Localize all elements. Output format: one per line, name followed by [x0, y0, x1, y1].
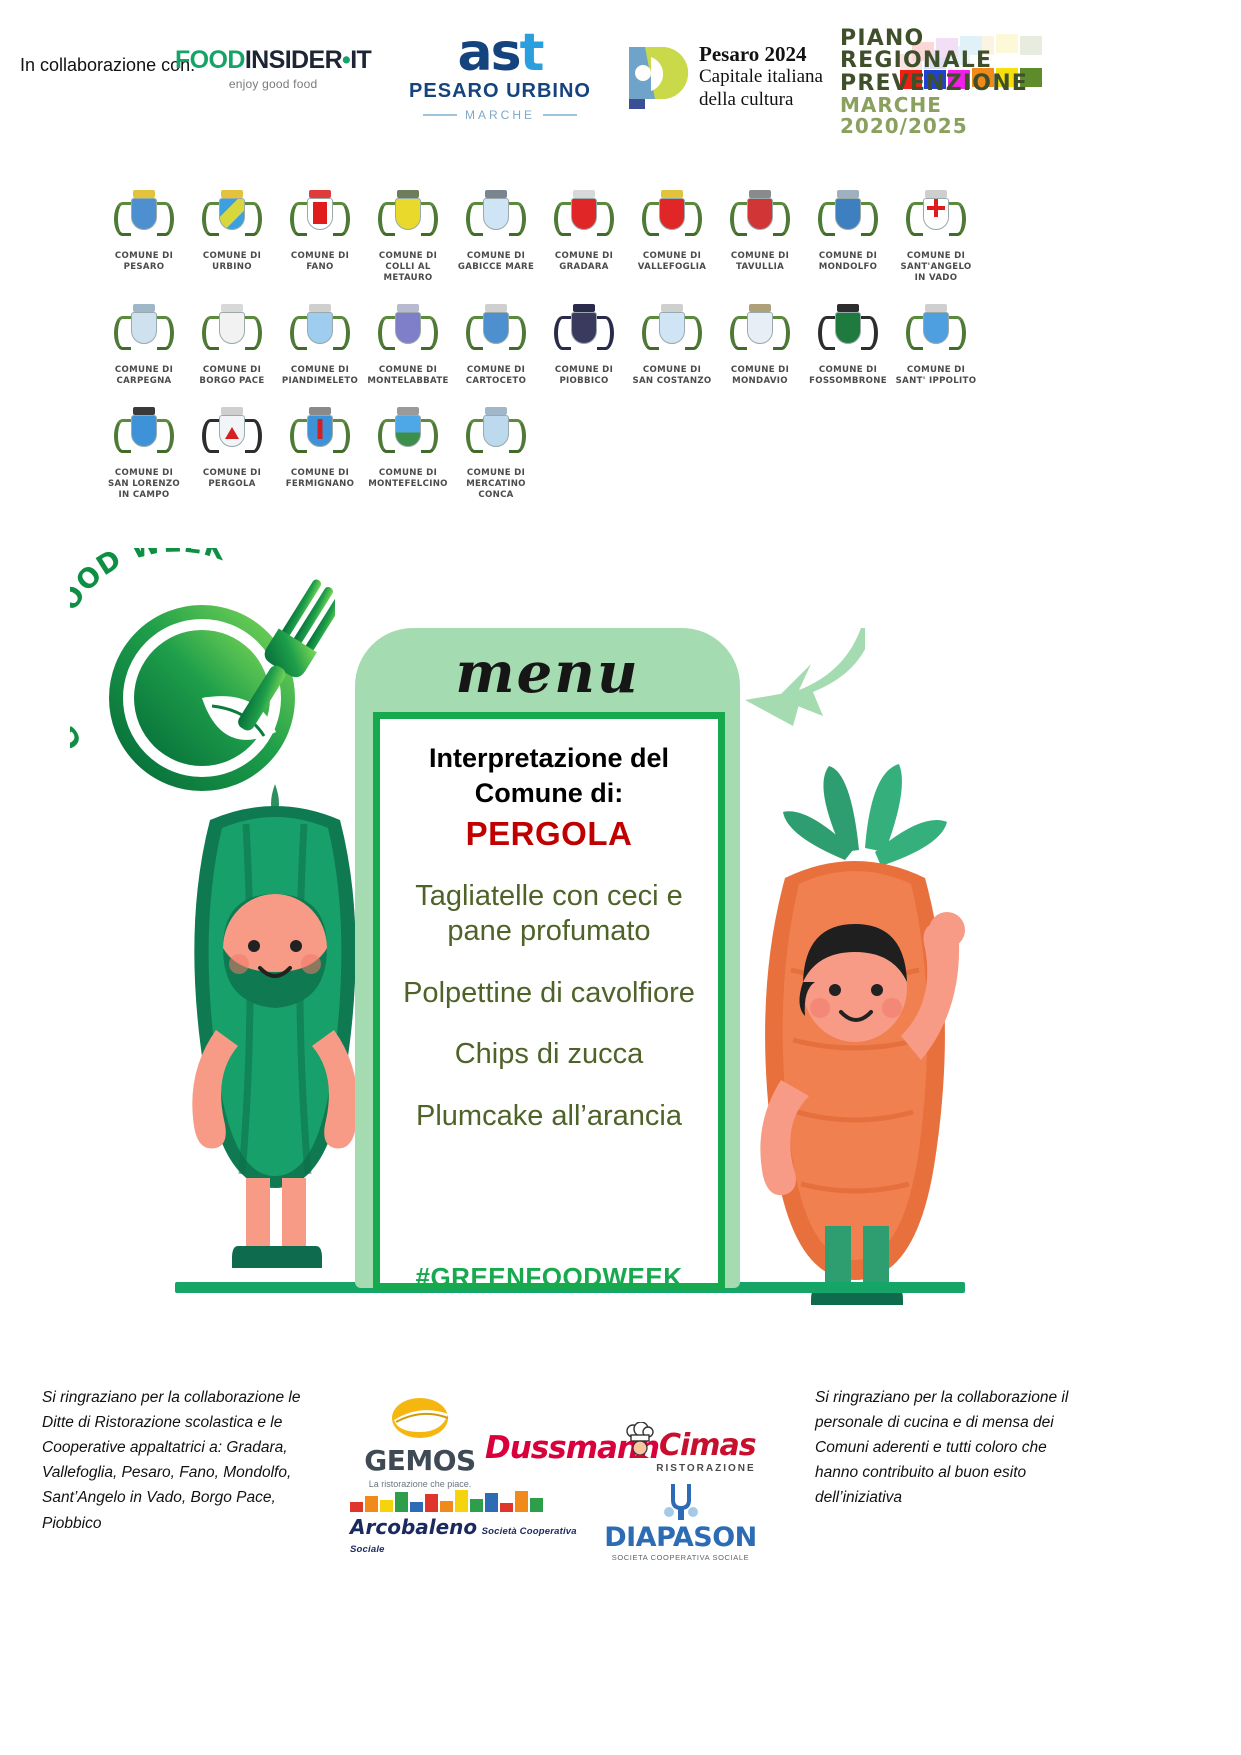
crest-shield-icon — [817, 304, 879, 362]
crest-shield-icon — [113, 407, 175, 465]
crest-name: VALLEFOGLIA — [638, 262, 706, 272]
crest-fano: COMUNE DIFANO — [278, 190, 362, 284]
cimas-logo: Cimas RISTORAZIONE — [625, 1422, 756, 1474]
crest-name: CARPEGNA — [116, 376, 171, 386]
crest-shield-icon — [641, 190, 703, 248]
crest-name: COLLI AL METAURO — [383, 262, 432, 283]
crest-santangelo-in-vado: COMUNE DISANT'ANGELO IN VADO — [894, 190, 978, 284]
diapason-tuning-fork-icon — [661, 1482, 701, 1520]
collaboration-label: In collaborazione con: — [20, 55, 195, 76]
foodinsider-tagline: enjoy good food — [175, 77, 371, 91]
footer-thanks-left: Si ringraziano per la collaborazione le … — [42, 1385, 310, 1536]
crest-prefix: COMUNE DI — [907, 365, 965, 375]
prp-line-2: REGIONALE — [840, 50, 1060, 72]
arcobaleno-name: Arcobaleno — [350, 1515, 477, 1539]
crest-prefix: COMUNE DI — [731, 251, 789, 261]
crest-prefix: COMUNE DI — [203, 365, 261, 375]
crest-name: SANT'ANGELO IN VADO — [900, 262, 971, 283]
arcobaleno-logo: Arcobaleno Società Cooperativa Sociale — [350, 1486, 580, 1557]
crest-shield-icon — [113, 190, 175, 248]
menu-script-title: menu — [355, 640, 740, 706]
cimas-tagline: RISTORAZIONE — [625, 1463, 756, 1474]
crest-shield-icon — [377, 407, 439, 465]
diapason-name: DIAPASON — [598, 1522, 763, 1553]
crest-prefix: COMUNE DI — [291, 251, 349, 261]
gemos-name: GEMOS — [360, 1444, 480, 1477]
pesaro-2024-line2: Capitale italiana — [699, 66, 823, 89]
gemos-logo: GEMOS La ristorazione che piace. — [360, 1396, 480, 1489]
crest-carpegna: COMUNE DICARPEGNA — [102, 304, 186, 387]
crest-name: SANT' IPPOLITO — [896, 376, 977, 386]
prp-line-1: PIANO — [840, 28, 1060, 50]
crest-prefix: COMUNE DI — [379, 365, 437, 375]
crest-mondavio: COMUNE DIMONDAVIO — [718, 304, 802, 387]
menu-item-3: Chips di zucca — [394, 1037, 704, 1072]
ast-plus-icon: t — [520, 23, 543, 83]
crest-name: MONTELABBATE — [367, 376, 448, 386]
crest-shield-icon — [553, 190, 615, 248]
crest-prefix: COMUNE DI — [467, 468, 525, 478]
crest-tavullia: COMUNE DITAVULLIA — [718, 190, 802, 284]
menu-items-list: Tagliatelle con ceci e pane profumato Po… — [394, 879, 704, 1160]
crest-prefix: COMUNE DI — [467, 251, 525, 261]
crest-montefelcino: COMUNE DIMONTEFELCINO — [366, 407, 450, 501]
crest-prefix: COMUNE DI — [643, 251, 701, 261]
crest-prefix: COMUNE DI — [819, 365, 877, 375]
crest-borgo-pace: COMUNE DIBORGO PACE — [190, 304, 274, 387]
crest-name: PIOBBICO — [559, 376, 608, 386]
crest-prefix: COMUNE DI — [379, 468, 437, 478]
crest-row-3: COMUNE DISAN LORENZO IN CAMPO COMUNE DIP… — [100, 407, 1040, 509]
crest-mondolfo: COMUNE DIMONDOLFO — [806, 190, 890, 284]
crest-prefix: COMUNE DI — [379, 251, 437, 261]
crest-prefix: COMUNE DI — [731, 365, 789, 375]
crest-mercatino-conca: COMUNE DIMERCATINO CONCA — [454, 407, 538, 501]
foodinsider-logo: FOODINSIDER•IT enjoy good food — [175, 48, 371, 91]
diapason-logo: DIAPASON SOCIETA COOPERATIVA SOCIALE — [598, 1482, 763, 1562]
crest-shield-icon — [729, 304, 791, 362]
crest-pesaro: COMUNE DIPESARO — [102, 190, 186, 284]
crest-pergola: COMUNE DIPERGOLA — [190, 407, 274, 501]
crest-shield-icon — [289, 190, 351, 248]
crest-name: SAN LORENZO IN CAMPO — [108, 479, 180, 500]
crest-shield-icon — [377, 190, 439, 248]
ast-wordmark: as — [458, 23, 520, 83]
menu-comune-name: PERGOLA — [466, 815, 633, 853]
gemos-plate-icon — [388, 1396, 452, 1444]
footer-thanks-right: Si ringraziano per la collaborazione il … — [815, 1385, 1090, 1511]
cimas-chef-icon — [625, 1422, 655, 1463]
piano-regionale-prevenzione-logo: PIANO REGIONALE PREVENZIONE MARCHE 2020/… — [840, 28, 1060, 136]
crest-shield-icon — [201, 304, 263, 362]
crest-santippolito: COMUNE DISANT' IPPOLITO — [894, 304, 978, 387]
crest-prefix: COMUNE DI — [819, 251, 877, 261]
menu-heading-line-2: Comune di: — [475, 776, 624, 811]
menu-item-2: Polpettine di cavolfiore — [394, 976, 704, 1011]
crest-name: PERGOLA — [208, 479, 255, 489]
crest-prefix: COMUNE DI — [907, 251, 965, 261]
pesaro-2024-logo: Pesaro 2024 Capitale italiana della cult… — [625, 42, 823, 112]
crest-row-1: COMUNE DIPESARO COMUNE DIURBINO COMUNE D… — [100, 190, 1040, 292]
crest-shield-icon — [817, 190, 879, 248]
crest-prefix: COMUNE DI — [115, 365, 173, 375]
crest-urbino: COMUNE DIURBINO — [190, 190, 274, 284]
crest-name: FERMIGNANO — [286, 479, 355, 489]
crest-shield-icon — [905, 190, 967, 248]
arcobaleno-bars-icon — [350, 1486, 580, 1512]
crest-shield-icon — [465, 304, 527, 362]
crest-montelabbate: COMUNE DIMONTELABBATE — [366, 304, 450, 387]
crest-shield-icon — [201, 190, 263, 248]
crest-name: URBINO — [212, 262, 252, 272]
crest-prefix: COMUNE DI — [291, 365, 349, 375]
crest-row-2: COMUNE DICARPEGNA COMUNE DIBORGO PACE CO… — [100, 304, 1040, 395]
crest-name: MERCATINO CONCA — [466, 479, 526, 500]
header-logo-strip: In collaborazione con: FOODINSIDER•IT en… — [0, 0, 1241, 150]
crest-name: MONDAVIO — [732, 376, 788, 386]
crest-name: PESARO — [124, 262, 165, 272]
foodinsider-insider: INSIDER — [245, 46, 342, 74]
menu-arrow-icon — [735, 622, 865, 732]
menu-item-1: Tagliatelle con ceci e pane profumato — [394, 879, 704, 950]
crest-shield-icon — [113, 304, 175, 362]
diapason-subtitle: SOCIETA COOPERATIVA SOCIALE — [598, 1553, 763, 1562]
crest-name: GABICCE MARE — [458, 262, 534, 272]
crest-name: GRADARA — [559, 262, 608, 272]
crest-name: MONDOLFO — [819, 262, 878, 272]
crest-prefix: COMUNE DI — [555, 251, 613, 261]
pesaro-2024-title: Pesaro 2024 — [699, 42, 823, 66]
crest-piandimeleto: COMUNE DIPIANDIMELETO — [278, 304, 362, 387]
crest-shield-icon — [465, 190, 527, 248]
sponsor-logo-group: GEMOS La ristorazione che piace. Dussman… — [340, 1378, 770, 1558]
crest-shield-icon — [289, 407, 351, 465]
crest-prefix: COMUNE DI — [203, 251, 261, 261]
poster-page: In collaborazione con: FOODINSIDER•IT en… — [0, 0, 1241, 1755]
foodinsider-food: FOOD — [175, 46, 245, 74]
crest-colli-al-metauro: COMUNE DICOLLI AL METAURO — [366, 190, 450, 284]
green-food-week-logo: GREEN FOOD WEEK — [70, 548, 335, 798]
foodinsider-dot-icon: • — [342, 46, 350, 74]
crest-vallefoglia: COMUNE DIVALLEFOGLIA — [630, 190, 714, 284]
crest-prefix: COMUNE DI — [643, 365, 701, 375]
menu-card: Interpretazione del Comune di: PERGOLA T… — [373, 712, 725, 1290]
crest-prefix: COMUNE DI — [291, 468, 349, 478]
ast-region-label: MARCHE — [465, 108, 535, 122]
crest-shield-icon — [201, 407, 263, 465]
crest-shield-icon — [905, 304, 967, 362]
crest-name: PIANDIMELETO — [282, 376, 358, 386]
prp-line-3: PREVENZIONE — [840, 73, 1060, 95]
crest-fermignano: COMUNE DIFERMIGNANO — [278, 407, 362, 501]
crest-prefix: COMUNE DI — [203, 468, 261, 478]
crest-name: TAVULLIA — [736, 262, 784, 272]
crest-name: MONTEFELCINO — [368, 479, 448, 489]
crest-shield-icon — [641, 304, 703, 362]
crest-name: SAN COSTANZO — [632, 376, 711, 386]
menu-heading-line-1: Interpretazione del — [429, 741, 669, 776]
crest-fossombrone: COMUNE DIFOSSOMBRONE — [806, 304, 890, 387]
crest-piobbico: COMUNE DIPIOBBICO — [542, 304, 626, 387]
crest-name: BORGO PACE — [199, 376, 264, 386]
green-food-week-hashtag: #GREENFOODWEEK — [373, 1262, 725, 1293]
pesaro-2024-line3: della cultura — [699, 89, 823, 112]
crest-gradara: COMUNE DIGRADARA — [542, 190, 626, 284]
cimas-name: Cimas — [659, 1428, 756, 1463]
crest-san-lorenzo-in-campo: COMUNE DISAN LORENZO IN CAMPO — [102, 407, 186, 501]
carrot-character-illustration — [725, 760, 985, 1305]
crest-shield-icon — [729, 190, 791, 248]
crest-shield-icon — [465, 407, 527, 465]
crest-shield-icon — [289, 304, 351, 362]
crest-prefix: COMUNE DI — [555, 365, 613, 375]
crest-name: FANO — [306, 262, 333, 272]
crest-prefix: COMUNE DI — [115, 251, 173, 261]
foodinsider-it: IT — [350, 46, 371, 74]
crest-shield-icon — [377, 304, 439, 362]
crest-shield-icon — [553, 304, 615, 362]
comuni-crest-grid: COMUNE DIPESARO COMUNE DIURBINO COMUNE D… — [100, 190, 1040, 509]
pesaro-2024-mark-icon — [625, 43, 689, 111]
ast-pesaro-urbino-logo: ast PESARO URBINO MARCHE — [400, 22, 600, 122]
menu-item-4: Plumcake all’arancia — [394, 1099, 704, 1134]
crest-name: CARTOCETO — [466, 376, 526, 386]
crest-prefix: COMUNE DI — [467, 365, 525, 375]
crest-gabicce-mare: COMUNE DIGABICCE MARE — [454, 190, 538, 284]
crest-prefix: COMUNE DI — [115, 468, 173, 478]
crest-name: FOSSOMBRONE — [809, 376, 887, 386]
crest-cartoceto: COMUNE DICARTOCETO — [454, 304, 538, 387]
crest-san-costanzo: COMUNE DISAN COSTANZO — [630, 304, 714, 387]
prp-line-4: MARCHE 2020/2025 — [840, 95, 1060, 136]
